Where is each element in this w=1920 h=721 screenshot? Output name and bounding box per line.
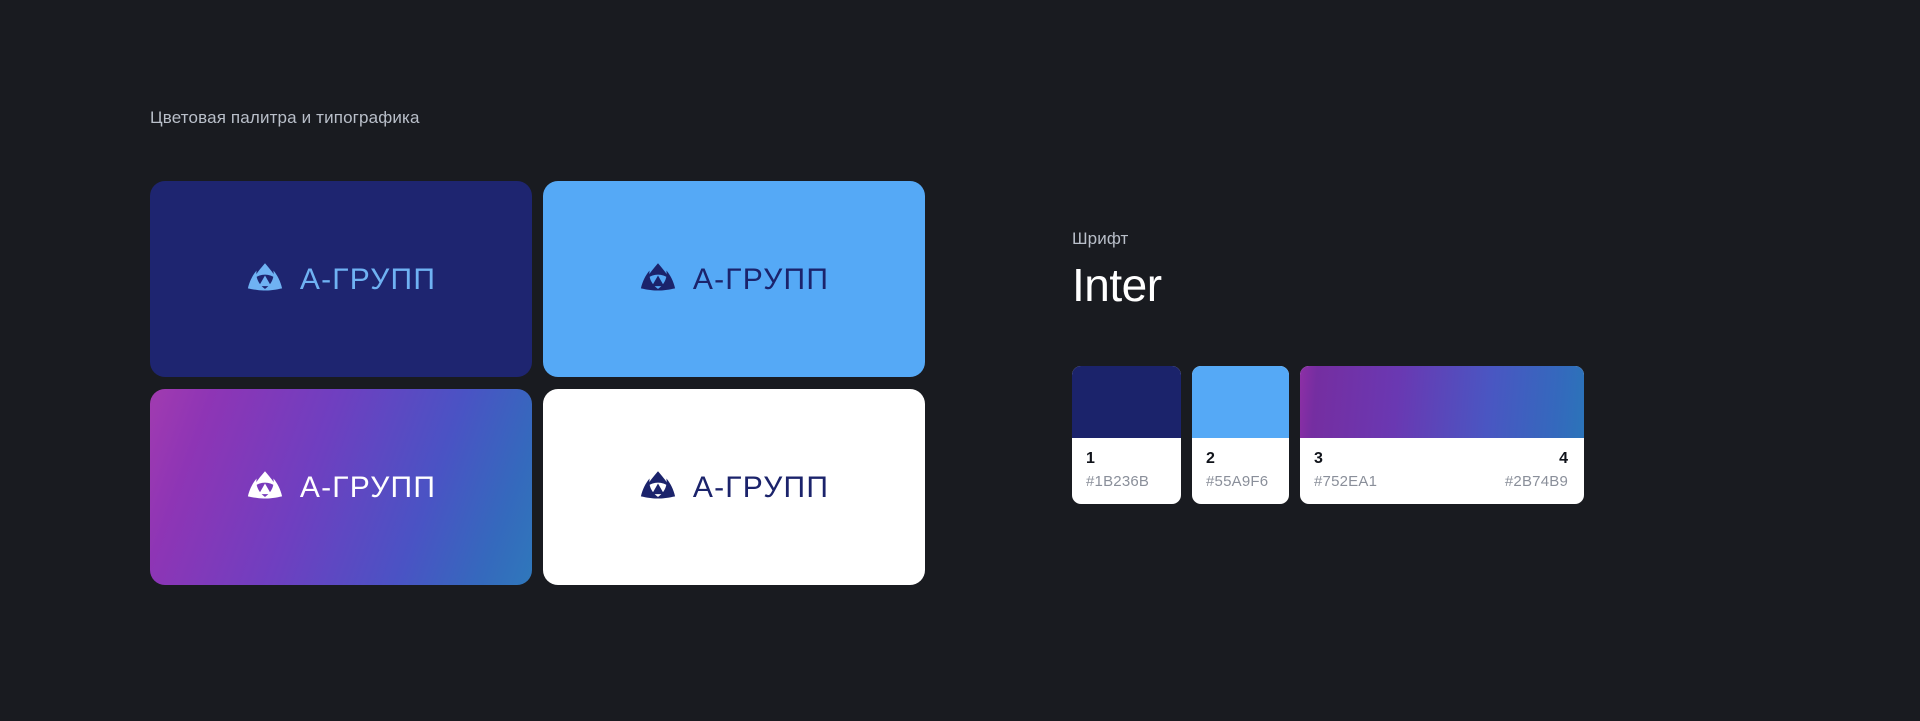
typography-panel: Шрифт Inter [1072, 228, 1162, 312]
color-swatch-1[interactable]: 1 #1B236B [1072, 366, 1181, 504]
color-chip [1300, 366, 1584, 438]
logo-lockup: А-ГРУПП [639, 469, 829, 507]
color-hex: #55A9F6 [1206, 474, 1275, 489]
section-caption: Цветовая палитра и типографика [150, 107, 420, 129]
a-group-triskelion-icon [246, 261, 284, 299]
color-meta: 1 #1B236B [1072, 438, 1181, 504]
color-meta: 2 #55A9F6 [1192, 438, 1289, 504]
color-index: 4 [1559, 451, 1568, 467]
color-index: 2 [1206, 451, 1275, 467]
logo-lockup: А-ГРУПП [246, 469, 436, 507]
a-group-triskelion-icon [639, 469, 677, 507]
color-hex: #752EA1 [1314, 474, 1377, 489]
color-palette: 1 #1B236B 2 #55A9F6 3 #752EA1 4 #2B74B9 [1072, 366, 1584, 504]
logo-lockup: А-ГРУПП [246, 261, 436, 299]
color-hex: #2B74B9 [1505, 474, 1568, 489]
canvas: Цветовая палитра и типографика А-ГРУПП [0, 0, 1920, 721]
logo-card-grid: А-ГРУПП А-ГРУПП [150, 181, 925, 585]
color-index: 1 [1086, 451, 1167, 467]
color-swatch-gradient[interactable]: 3 #752EA1 4 #2B74B9 [1300, 366, 1584, 504]
logo-wordmark: А-ГРУПП [693, 265, 829, 295]
logo-card-sky[interactable]: А-ГРУПП [543, 181, 925, 377]
logo-wordmark: А-ГРУПП [300, 265, 436, 295]
a-group-triskelion-icon [639, 261, 677, 299]
color-hex: #1B236B [1086, 474, 1167, 489]
typography-label: Шрифт [1072, 228, 1162, 250]
typography-font-name: Inter [1072, 258, 1162, 312]
color-chip [1192, 366, 1289, 438]
color-swatch-2[interactable]: 2 #55A9F6 [1192, 366, 1289, 504]
logo-wordmark: А-ГРУПП [300, 473, 436, 503]
logo-card-navy[interactable]: А-ГРУПП [150, 181, 532, 377]
logo-card-gradient[interactable]: А-ГРУПП [150, 389, 532, 585]
color-index: 3 [1314, 451, 1377, 467]
color-meta: 3 #752EA1 4 #2B74B9 [1300, 438, 1584, 504]
logo-lockup: А-ГРУПП [639, 261, 829, 299]
color-chip [1072, 366, 1181, 438]
logo-wordmark: А-ГРУПП [693, 473, 829, 503]
logo-card-white[interactable]: А-ГРУПП [543, 389, 925, 585]
a-group-triskelion-icon [246, 469, 284, 507]
